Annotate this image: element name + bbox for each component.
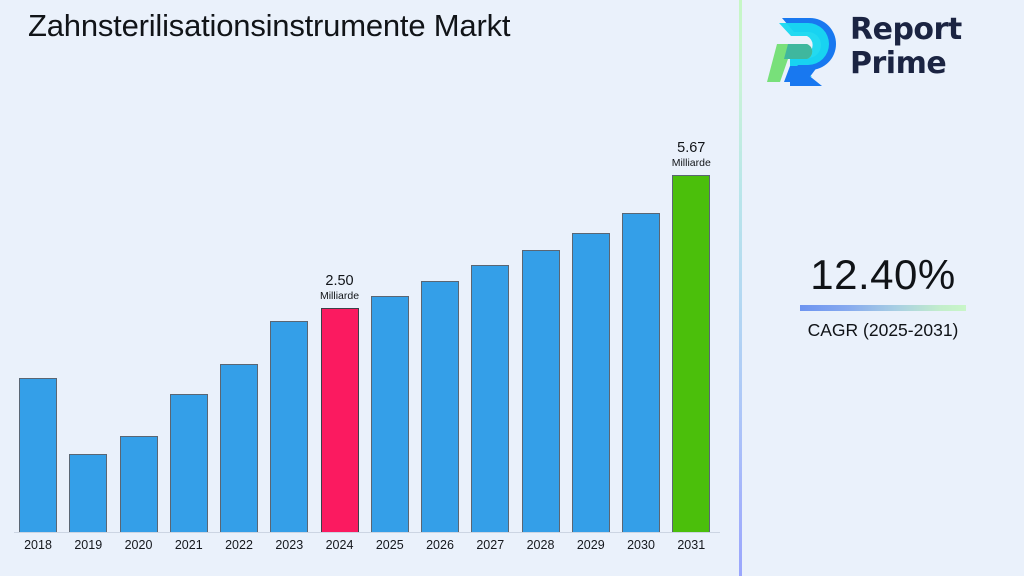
bar-value-unit-2031: Milliarde — [646, 158, 736, 169]
chart-panel: Zahnsterilisationsinstrumente Markt 2.50… — [0, 0, 740, 576]
bar-value-number-2031: 5.67 — [646, 141, 736, 156]
bar-rect-2031 — [672, 175, 710, 532]
bar-rect-2024 — [321, 308, 359, 532]
report-prime-logo-mark-icon — [766, 14, 842, 86]
bar-value-number-2024: 2.50 — [295, 274, 385, 289]
bar-rect-2025 — [371, 296, 409, 532]
infographic-page: Zahnsterilisationsinstrumente Markt 2.50… — [0, 0, 1024, 576]
bar-rect-2018 — [19, 378, 57, 532]
logo-line-1: Report — [850, 13, 962, 47]
cagr-block: 12.40% CAGR (2025-2031) — [742, 252, 1024, 341]
bar-rect-2019 — [69, 454, 107, 532]
summary-panel: Report Prime 12.40% CAGR (2025-2031) — [742, 0, 1024, 576]
bar-value-label-2031: 5.67Milliarde — [646, 141, 736, 169]
bar-rect-2030 — [622, 213, 660, 532]
x-axis-line — [14, 532, 720, 533]
report-prime-logo: Report Prime — [766, 10, 1004, 90]
logo-line-2: Prime — [850, 47, 962, 81]
logo-wordmark: Report Prime — [850, 13, 962, 80]
bar-rect-2022 — [220, 364, 258, 532]
bar-rect-2021 — [170, 394, 208, 532]
bar-rect-2027 — [471, 265, 509, 532]
bar-rect-2026 — [421, 281, 459, 532]
x-tick-2031: 2031 — [661, 538, 721, 552]
cagr-value: 12.40% — [742, 252, 1024, 297]
cagr-divider — [800, 305, 966, 311]
bar-rect-2028 — [522, 250, 560, 532]
bar-rect-2023 — [270, 321, 308, 532]
bar-rect-2020 — [120, 436, 158, 532]
bar-chart: 2.50Milliarde5.67Milliarde 2018201920202… — [0, 0, 740, 576]
bar-rect-2029 — [572, 233, 610, 532]
cagr-label: CAGR (2025-2031) — [742, 320, 1024, 341]
